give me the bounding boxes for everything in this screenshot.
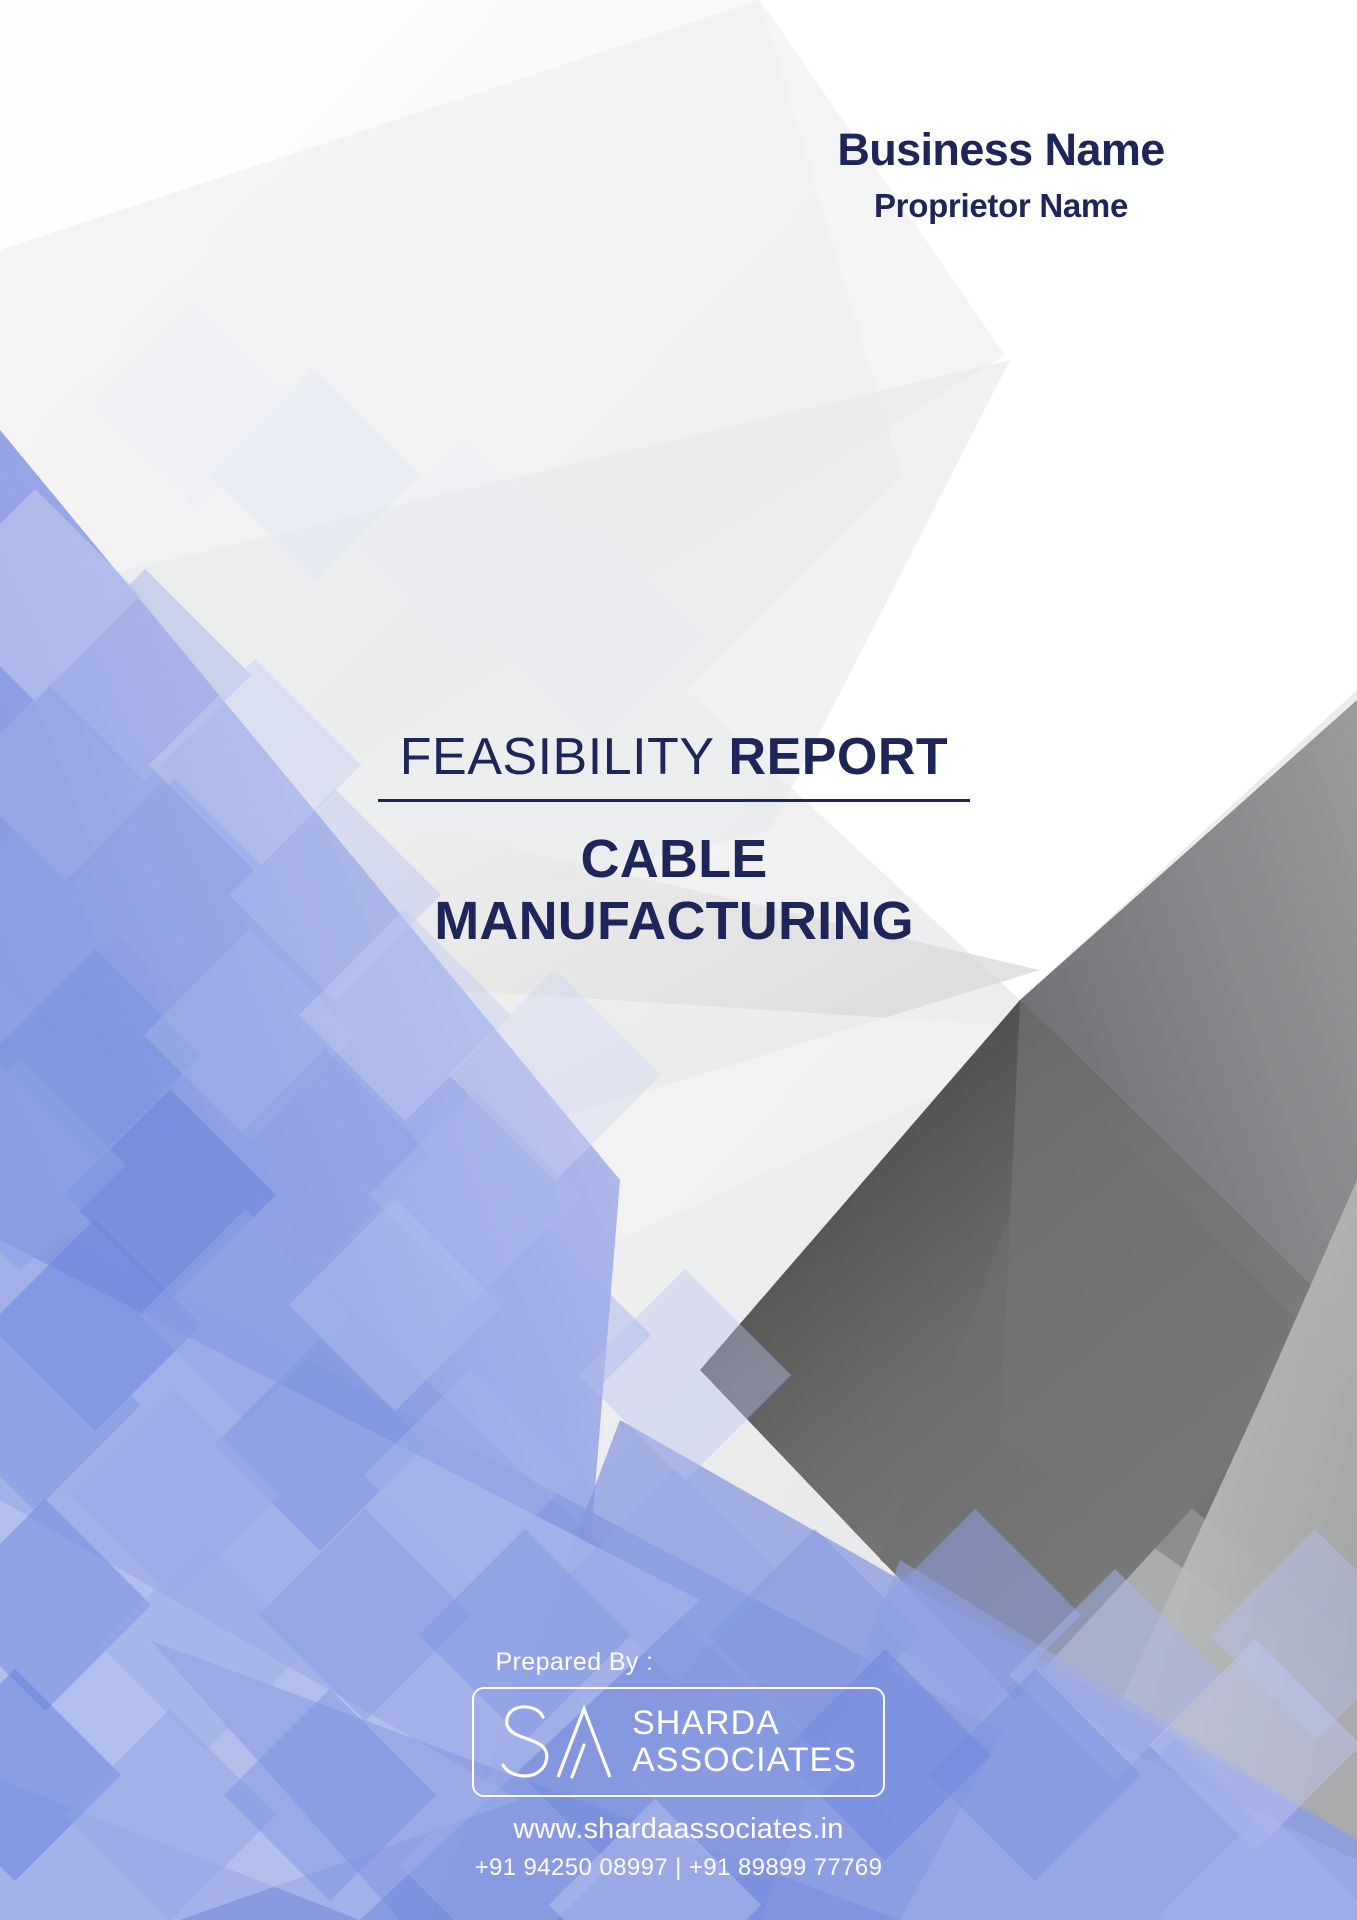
report-heading: FEASIBILITY REPORT bbox=[378, 730, 970, 785]
cover-header: Business Name Proprietor Name bbox=[721, 126, 1281, 225]
background-artwork bbox=[0, 0, 1357, 1920]
report-subject-line-2: MANUFACTURING bbox=[378, 890, 970, 952]
report-subject-line-1: CABLE bbox=[378, 828, 970, 890]
phone-numbers: +91 94250 08997 | +91 89899 77769 bbox=[0, 1854, 1357, 1882]
website-url[interactable]: www.shardaassociates.in bbox=[0, 1813, 1357, 1846]
sa-monogram-icon bbox=[496, 1703, 614, 1781]
report-heading-bold: REPORT bbox=[729, 728, 949, 786]
proprietor-name: Proprietor Name bbox=[721, 186, 1281, 226]
logo-wordmark: SHARDA ASSOCIATES bbox=[632, 1705, 857, 1778]
business-name: Business Name bbox=[721, 126, 1281, 175]
logo-name-line-2: ASSOCIATES bbox=[632, 1742, 857, 1779]
background-geometry bbox=[0, 0, 1357, 1920]
prepared-by-label: Prepared By : bbox=[0, 1648, 1357, 1677]
logo-name-line-1: SHARDA bbox=[632, 1705, 857, 1742]
title-block: FEASIBILITY REPORT CABLE MANUFACTURING bbox=[378, 730, 970, 952]
cover-footer: Prepared By : SHARDA ASSOCIATES www.shar… bbox=[0, 1648, 1357, 1882]
sharda-associates-logo: SHARDA ASSOCIATES bbox=[472, 1687, 885, 1797]
title-divider bbox=[378, 799, 970, 802]
cover-page: Business Name Proprietor Name FEASIBILIT… bbox=[0, 0, 1357, 1920]
report-heading-light: FEASIBILITY bbox=[400, 728, 729, 786]
report-subject: CABLE MANUFACTURING bbox=[378, 828, 970, 952]
